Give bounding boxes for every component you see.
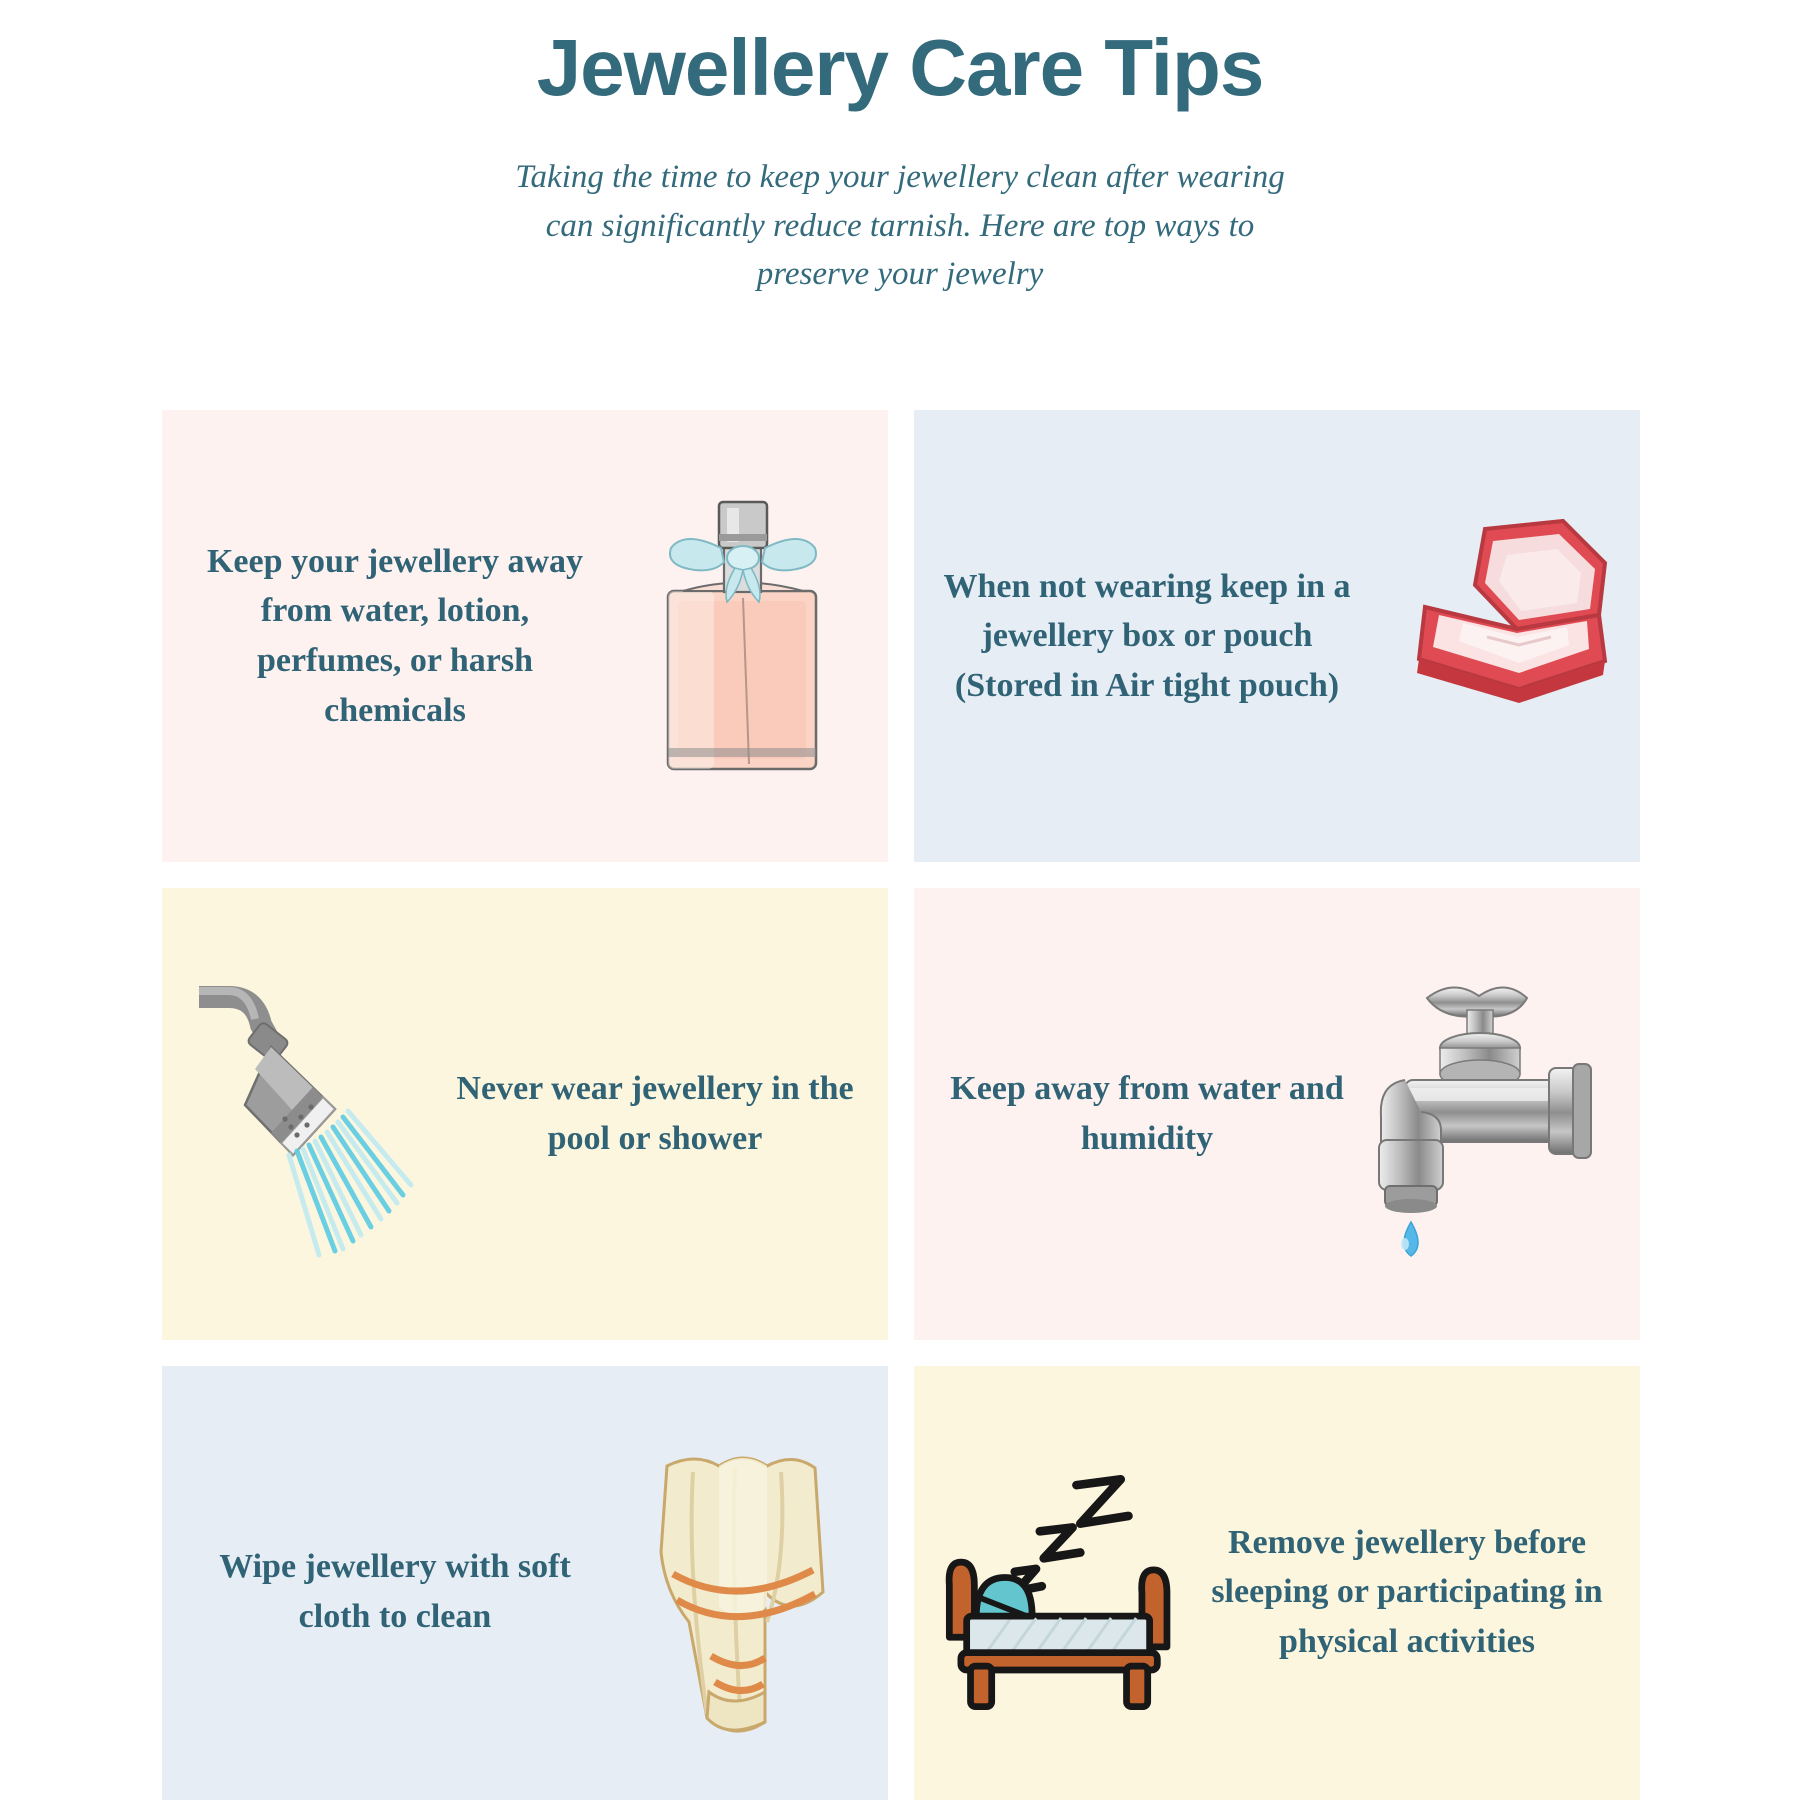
tip-card-5-text: Wipe jewellery with soft cloth to clean [180, 1542, 610, 1641]
tip-card-2: When not wearing keep in a jewellery box… [914, 410, 1640, 862]
tip-card-1-text: Keep your jewellery away from water, lot… [180, 537, 610, 736]
ring-box-icon [1362, 486, 1622, 786]
tip-card-4: Keep away from water and humidity [914, 888, 1640, 1340]
tip-card-3: Never wear jewellery in the pool or show… [162, 888, 888, 1340]
tip-card-5: Wipe jewellery with soft cloth to clean [162, 1366, 888, 1800]
tip-card-6: Remove jewellery before sleeping or part… [914, 1366, 1640, 1800]
page-subtitle: Taking the time to keep your jewellery c… [500, 153, 1300, 299]
header: Jewellery Care Tips Taking the time to k… [0, 0, 1800, 299]
cloth-icon [610, 1442, 870, 1742]
tips-grid: Keep your jewellery away from water, lot… [162, 410, 1640, 1800]
tip-card-2-text: When not wearing keep in a jewellery box… [932, 562, 1362, 711]
tip-card-3-text: Never wear jewellery in the pool or show… [440, 1064, 870, 1163]
faucet-icon [1362, 964, 1622, 1264]
perfume-bottle-icon [610, 486, 870, 786]
tip-card-1: Keep your jewellery away from water, lot… [162, 410, 888, 862]
tip-card-6-text: Remove jewellery before sleeping or part… [1192, 1518, 1622, 1667]
infographic-page: Jewellery Care Tips Taking the time to k… [0, 0, 1800, 1800]
shower-head-icon [180, 964, 440, 1264]
bed-sleeping-icon [932, 1442, 1192, 1742]
page-title: Jewellery Care Tips [0, 26, 1800, 111]
tip-card-4-text: Keep away from water and humidity [932, 1064, 1362, 1163]
